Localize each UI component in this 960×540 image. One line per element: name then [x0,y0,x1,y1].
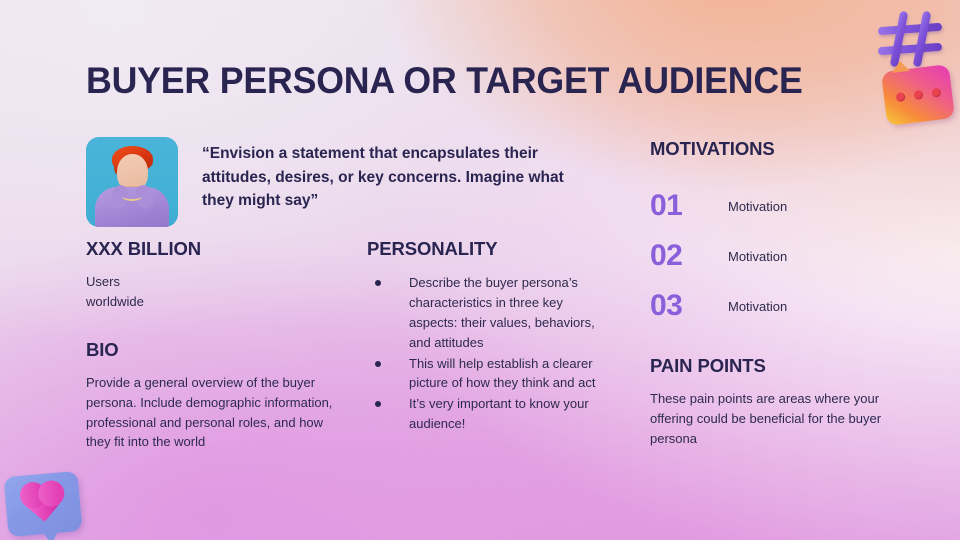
list-item: Describe the buyer persona’s characteris… [367,273,599,353]
motivation-number: 03 [650,289,728,323]
chat-bubble-icon [881,64,955,126]
slide-canvas: BUYER PERSONA OR TARGET AUDIENCE “Envisi… [0,0,960,540]
portrait-necklace [122,192,142,201]
stat-subtext: Users worldwide [86,272,336,312]
chat-bubble-dot [895,92,905,102]
stat-subtext-line1: Users [86,272,336,292]
bio-heading: BIO [86,339,336,361]
bio-text: Provide a general overview of the buyer … [86,373,336,453]
motivation-label: Motivation [728,249,787,264]
chat-bubble-dot [913,90,923,100]
chat-bubble-tail [891,60,910,73]
page-title: BUYER PERSONA OR TARGET AUDIENCE [86,60,803,102]
personality-heading: PERSONALITY [367,238,599,260]
motivation-number: 02 [650,239,728,273]
hashtag-bar-horizontal-bottom [878,43,942,55]
list-item: It’s very important to know your audienc… [367,394,599,434]
heart-icon [25,485,62,522]
avatar [86,137,178,227]
motivation-number: 01 [650,189,728,223]
motivation-label: Motivation [728,199,787,214]
hashtag-icon [874,8,948,70]
personality-bullet-list: Describe the buyer persona’s characteris… [367,273,599,434]
motivations-heading: MOTIVATIONS [650,138,920,160]
personality-column: PERSONALITY Describe the buyer persona’s… [367,238,599,435]
pain-points-block: PAIN POINTS These pain points are areas … [650,355,920,449]
pain-points-heading: PAIN POINTS [650,355,920,377]
list-item: 01 Motivation [650,181,920,231]
bio-block: BIO Provide a general overview of the bu… [86,339,336,453]
persona-quote: “Envision a statement that encapsulates … [202,142,592,213]
list-item: 02 Motivation [650,231,920,281]
stat-heading: XXX BILLION [86,238,336,260]
list-item: This will help establish a clearer pictu… [367,354,599,394]
stat-subtext-line2: worldwide [86,292,336,312]
right-column: MOTIVATIONS 01 Motivation 02 Motivation … [650,138,920,449]
heart-bubble-tail [42,531,59,540]
heart-bubble-icon [4,471,83,537]
list-item: 03 Motivation [650,281,920,331]
chat-bubble-dot [931,88,941,98]
chat-bubble-dots [884,86,953,103]
hashtag-bar-vertical-left [890,11,909,67]
hashtag-bar-horizontal-top [878,23,942,35]
left-column: XXX BILLION Users worldwide BIO Provide … [86,238,336,452]
motivations-list: 01 Motivation 02 Motivation 03 Motivatio… [650,181,920,331]
hashtag-bar-vertical-right [913,11,932,67]
motivation-label: Motivation [728,299,787,314]
pain-points-text: These pain points are areas where your o… [650,389,920,449]
